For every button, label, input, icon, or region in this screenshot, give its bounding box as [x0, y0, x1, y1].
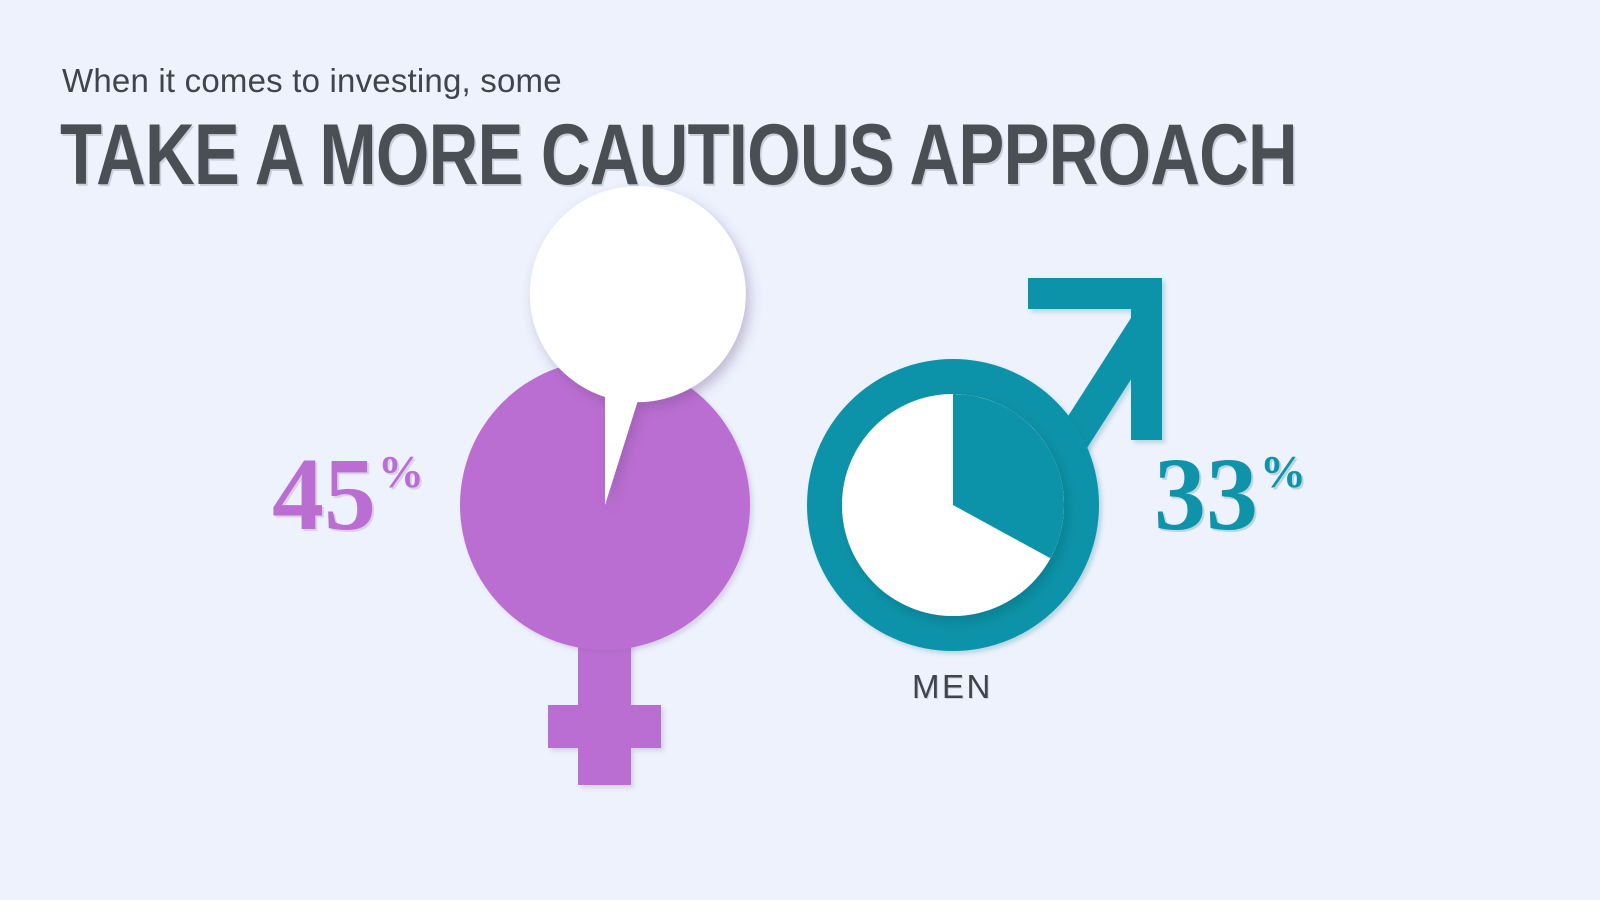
- female-symbol-cross: [548, 630, 661, 785]
- male-gender-symbol-icon: [790, 258, 1190, 668]
- label-men: MEN: [912, 668, 993, 706]
- infographic-canvas: When it comes to investing, some TAKE A …: [0, 0, 1600, 900]
- page-title: TAKE A MORE CAUTIOUS APPROACH: [60, 112, 1297, 200]
- stat-women-value: 45: [272, 443, 376, 547]
- female-gender-symbol-icon: [430, 330, 770, 810]
- stat-women-percentage: 45%: [272, 443, 424, 547]
- stat-women-unit: %: [378, 449, 424, 495]
- pie-chart-33-percent-icon: [842, 394, 1064, 616]
- kicker-text: When it comes to investing, some: [62, 62, 562, 100]
- stat-men-unit: %: [1260, 449, 1306, 495]
